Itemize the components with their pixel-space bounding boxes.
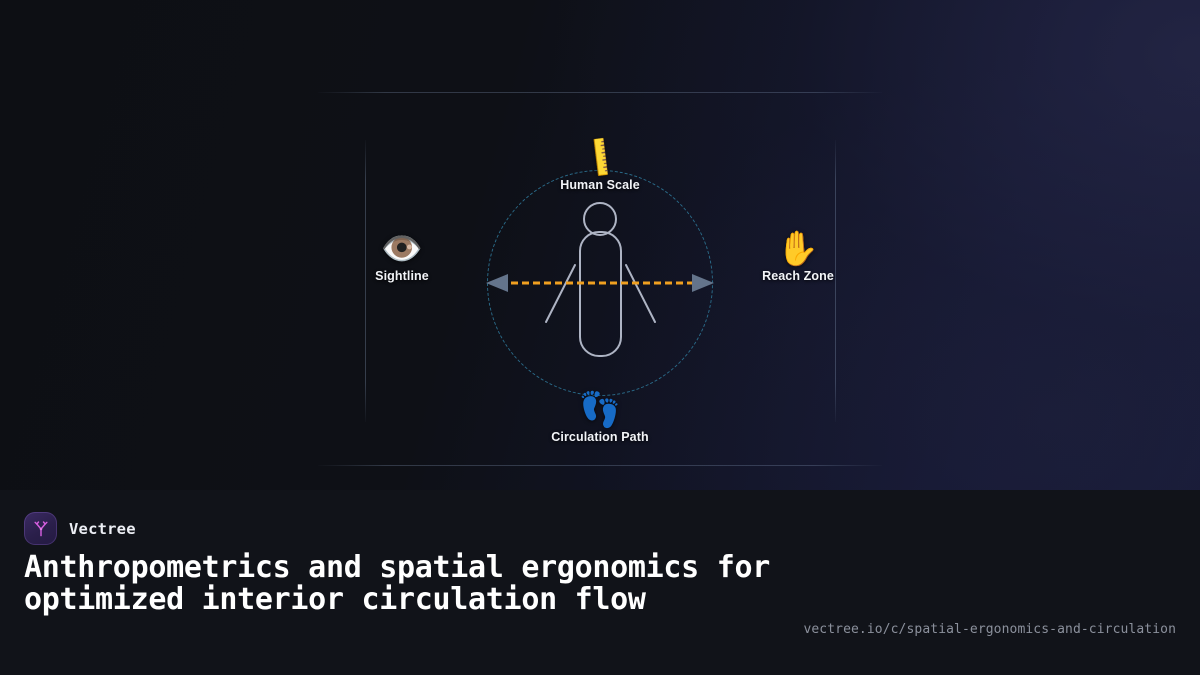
divider-top — [318, 92, 882, 93]
page-title: Anthropometrics and spatial ergonomics f… — [24, 552, 784, 616]
divider-bottom — [318, 465, 882, 466]
node-label-sightline: Sightline — [375, 269, 429, 283]
node-label-human-scale: Human Scale — [560, 178, 640, 192]
diagram-node-reach-zone[interactable]: ✋ Reach Zone — [718, 232, 878, 283]
straight-ruler-icon: 📏 — [576, 135, 624, 182]
diagram-node-circulation-path[interactable]: 👣 Circulation Path — [520, 393, 680, 444]
node-label-circulation-path: Circulation Path — [551, 430, 648, 444]
brand-row[interactable]: Vectree — [24, 512, 136, 545]
brand-name: Vectree — [69, 520, 136, 538]
node-label-reach-zone: Reach Zone — [762, 269, 834, 283]
eye-icon: 👁️ — [381, 232, 423, 266]
diagram-node-human-scale[interactable]: 📏 Human Scale — [520, 143, 680, 192]
raised-hand-icon: ✋ — [777, 232, 819, 266]
circulation-radius-circle — [487, 170, 713, 396]
hero-diagram-stage: 📏 Human Scale 👁️ Sightline ✋ Reach Zone … — [0, 0, 1200, 490]
footer-url: vectree.io/c/spatial-ergonomics-and-circ… — [803, 622, 1176, 637]
footprints-icon: 👣 — [579, 393, 621, 427]
footer-caption-panel: Vectree Anthropometrics and spatial ergo… — [0, 490, 1200, 675]
diagram-node-sightline[interactable]: 👁️ Sightline — [322, 232, 482, 283]
vectree-tree-logo-icon — [24, 512, 57, 545]
